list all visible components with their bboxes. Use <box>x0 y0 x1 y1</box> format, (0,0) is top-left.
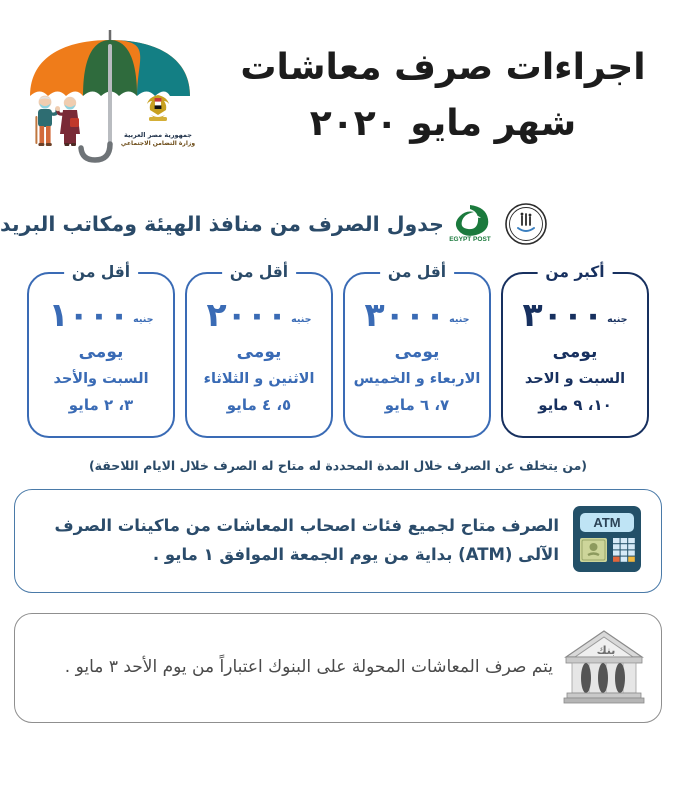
title-line-2: شهر مايو ٢٠٢٠ <box>228 96 658 152</box>
egypt-emblem-block: جمهورية مصر العربية وزارة التضامن الاجتم… <box>118 92 198 160</box>
card-amount-row: ٢٠٠٠ جنيه <box>187 298 331 334</box>
card-amount: ٣٠٠٠ <box>365 298 446 331</box>
card-daily-label: يومى <box>503 342 647 362</box>
card-amount: ٢٠٠٠ <box>207 298 288 331</box>
card-under-3000: أقل من ٣٠٠٠ جنيه يومى الاربعاء و الخميس … <box>343 272 491 438</box>
atm-machine-icon: ATM <box>569 503 645 575</box>
social-insurance-seal-icon <box>504 202 548 246</box>
title-line-1: اجراءات صرف معاشات <box>228 40 658 96</box>
card-days: الاثنين و الثلاثاء <box>187 371 331 388</box>
subtitle-logos: EGYPT POST <box>444 201 548 247</box>
egypt-eagle-emblem-icon <box>142 92 174 126</box>
card-amount: ١٠٠٠ <box>49 298 130 331</box>
card-top-label: أكبر من <box>537 263 612 281</box>
card-top-label: أقل من <box>380 263 454 281</box>
subtitle-row: جدول الصرف من منافذ الهيئة ومكاتب البريد… <box>0 190 676 258</box>
bank-building-icon: بنك <box>563 627 645 705</box>
emblem-ministry-label: وزارة التضامن الاجتماعي <box>118 140 198 147</box>
card-top-label: أقل من <box>222 263 296 281</box>
bank-info-box: يتم صرف المعاشات المحولة على البنوك اعتب… <box>14 613 662 723</box>
card-amount-row: ٣٠٠٠ جنيه <box>345 298 489 334</box>
atm-info-box: الصرف متاح لجميع فئات اصحاب المعاشات من … <box>14 489 662 593</box>
bank-icon-wrapper: بنك <box>563 627 645 709</box>
card-days: السبت والأحد <box>29 371 173 388</box>
emblem-country-label: جمهورية مصر العربية <box>118 131 198 139</box>
card-under-1000: أقل من ١٠٠٠ جنيه يومى السبت والأحد ٣، ٢ … <box>27 272 175 438</box>
svg-text:بنك: بنك <box>597 644 616 657</box>
infographic-page: اجراءات صرف معاشات شهر مايو ٢٠٢٠ <box>0 0 676 800</box>
header-logo-cluster: جمهورية مصر العربية وزارة التضامن الاجتم… <box>10 8 210 188</box>
card-date: ٥، ٤ مايو <box>187 396 331 414</box>
header: اجراءات صرف معاشات شهر مايو ٢٠٢٠ <box>0 0 676 190</box>
card-date: ١٠، ٩ مايو <box>503 396 647 414</box>
atm-info-text: الصرف متاح لجميع فئات اصحاب المعاشات من … <box>31 512 563 570</box>
card-amount-row: ٣٠٠٠ جنيه <box>503 298 647 334</box>
card-days: الاربعاء و الخميس <box>345 371 489 388</box>
egypt-post-logo-icon: EGYPT POST <box>444 201 496 247</box>
card-days: السبت و الاحد <box>503 371 647 388</box>
svg-text:ATM: ATM <box>593 515 620 530</box>
svg-text:EGYPT POST: EGYPT POST <box>449 236 491 243</box>
subtitle-text: جدول الصرف من منافذ الهيئة ومكاتب البريد <box>0 212 444 236</box>
card-date: ٣، ٢ مايو <box>29 396 173 414</box>
card-amount: ٣٠٠٠ <box>523 298 604 331</box>
page-title: اجراءات صرف معاشات شهر مايو ٢٠٢٠ <box>228 40 658 152</box>
card-daily-label: يومى <box>345 342 489 362</box>
card-date: ٧، ٦ مايو <box>345 396 489 414</box>
card-currency: جنيه <box>449 314 469 325</box>
card-currency: جنيه <box>291 314 311 325</box>
card-currency: جنيه <box>133 314 153 325</box>
card-top-label: أقل من <box>64 263 138 281</box>
card-daily-label: يومى <box>29 342 173 362</box>
card-daily-label: يومى <box>187 342 331 362</box>
bank-info-text: يتم صرف المعاشات المحولة على البنوك اعتب… <box>31 653 557 683</box>
card-currency: جنيه <box>607 314 627 325</box>
disbursement-cards-row: أقل من ١٠٠٠ جنيه يومى السبت والأحد ٣، ٢ … <box>0 258 676 440</box>
card-over-3000: أكبر من ٣٠٠٠ جنيه يومى السبت و الاحد ١٠،… <box>501 272 649 438</box>
elderly-couple-icon <box>26 90 88 152</box>
atm-icon-wrapper: ATM <box>569 503 645 579</box>
late-disbursement-note: (من يتخلف عن الصرف خلال المدة المحددة له… <box>0 458 676 473</box>
card-amount-row: ١٠٠٠ جنيه <box>29 298 173 334</box>
card-under-2000: أقل من ٢٠٠٠ جنيه يومى الاثنين و الثلاثاء… <box>185 272 333 438</box>
